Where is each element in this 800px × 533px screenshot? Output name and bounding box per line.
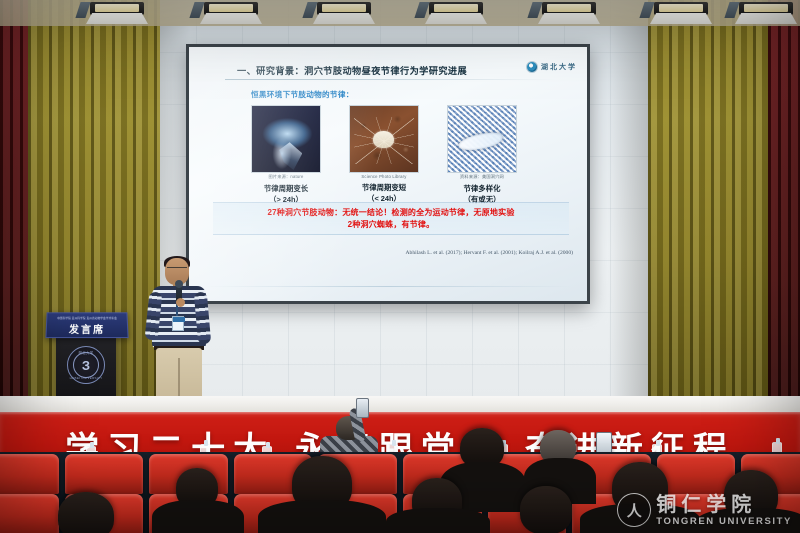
figure-caption-line1: 节律周期变短: [349, 182, 419, 193]
banner-top-edge: [0, 412, 800, 415]
watermark: 人 铜仁学院 TONGREN UNIVERSITY: [617, 493, 792, 527]
audience-head: [520, 486, 572, 533]
slide-title: 一、研究背景：洞穴节肢动物昼夜节律行为学研究进展: [237, 63, 467, 77]
cave-cricket-photo-icon: [349, 105, 419, 173]
stage-floor-gloss: [0, 396, 800, 410]
slide-title-rule: [225, 79, 555, 80]
audience-shoulders: [258, 500, 386, 533]
podium-emblem-en: HUBEI UNIVERSITY: [68, 376, 104, 380]
cave-creature-photo-icon: [447, 105, 517, 173]
auditorium-scene: 一、研究背景：洞穴节肢动物昼夜节律行为学研究进展 湖北大学 恒黑环境下节肢动物的…: [0, 0, 800, 533]
projection-screen: 一、研究背景：洞穴节肢动物昼夜节律行为学研究进展 湖北大学 恒黑环境下节肢动物的…: [186, 44, 590, 304]
stage-light-icon: [538, 2, 600, 24]
watermark-en: TONGREN UNIVERSITY: [656, 516, 792, 527]
figure-item: Science Photo Library 节律周期变短 （< 24h）: [349, 105, 419, 205]
audience-head: [58, 492, 114, 533]
slide-highlight-box: 27种洞穴节肢动物：无统一结论！检测的全为运动节律，无原地实验 2种洞穴蜘蛛，有…: [213, 202, 569, 235]
university-emblem-icon: [526, 61, 538, 73]
slide-logo-text: 湖北大学: [541, 62, 577, 72]
watermark-zh: 铜仁学院: [656, 494, 792, 514]
audience-shoulders: [152, 500, 244, 533]
slide-subtitle: 恒黑环境下节肢动物的节律：: [251, 89, 354, 100]
presenter: [148, 258, 214, 400]
stage-light-icon: [650, 2, 712, 24]
amphipod-photo-icon: [251, 105, 321, 173]
slide-surface: 一、研究背景：洞穴节肢动物昼夜节律行为学研究进展 湖北大学 恒黑环境下节肢动物的…: [189, 47, 587, 301]
name-badge: [172, 316, 184, 331]
watermark-logo-icon: 人: [617, 493, 651, 527]
figure-item: 资料来源：美国洞穴网 节律多样化 （有或无）: [447, 105, 517, 205]
highlight-line-2: 2种洞穴蜘蛛，有节律。: [215, 219, 567, 230]
theater-seat: [657, 454, 736, 494]
podium-emblem-glyph: З: [73, 352, 99, 378]
audience-shoulders: [386, 508, 490, 533]
highlight-line-1: 27种洞穴节肢动物：无统一结论！检测的全为运动节律，无原地实验: [215, 207, 567, 218]
figure-credit: 资料来源：美国洞穴网: [447, 174, 517, 180]
figure-caption-line1: 节律多样化: [447, 183, 517, 194]
slide-bottom-rule: [205, 286, 571, 287]
stage-light-icon: [200, 2, 262, 24]
slide-university-logo: 湖北大学: [526, 61, 577, 73]
theater-seat: [0, 454, 59, 494]
presenter-legs: [156, 348, 202, 400]
slide-citation: Abhilash L. et al. (2017); Hervant F. et…: [189, 250, 573, 256]
curtain-gold-right: [648, 0, 774, 400]
glasses-icon: [167, 267, 187, 271]
podium-emblem-zh: 湖北大学: [68, 350, 104, 355]
podium-sign-subtitle: 中国科学院 贵州科学院 贵州省动物学会学术年会: [47, 316, 127, 320]
figure-caption-line1: 节律周期变长: [251, 183, 321, 194]
watermark-text: 铜仁学院 TONGREN UNIVERSITY: [656, 494, 792, 527]
presenter-hand: [176, 298, 185, 307]
smartphone-icon: [356, 398, 369, 418]
figure-credit: Science Photo Library: [349, 174, 419, 179]
podium: 湖北大学 З HUBEI UNIVERSITY: [56, 330, 116, 400]
theater-seat: [65, 454, 144, 494]
stage-light-icon: [425, 2, 487, 24]
podium-sign-label: 发言席: [46, 321, 127, 336]
theater-seat: [0, 494, 59, 533]
stage-light-icon: [86, 2, 148, 24]
stage-light-icon: [313, 2, 375, 24]
podium-emblem-icon: 湖北大学 З HUBEI UNIVERSITY: [67, 346, 105, 384]
podium-sign: 中国科学院 贵州科学院 贵州省动物学会学术年会 发言席: [45, 312, 128, 338]
figure-credit: 图片来源：nature: [251, 174, 321, 180]
stage-light-icon: [735, 2, 797, 24]
figure-item: 图片来源：nature 节律周期变长 （> 24h）: [251, 105, 321, 205]
curtain-red-right: [768, 0, 800, 400]
figure-row: 图片来源：nature 节律周期变长 （> 24h） Science Photo…: [251, 105, 541, 205]
